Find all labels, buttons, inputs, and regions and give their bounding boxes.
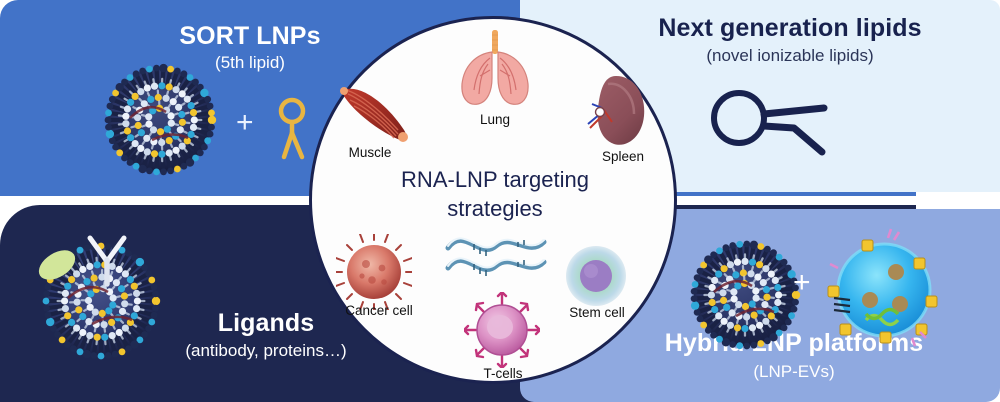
hybrid-lnp-platforms-subtitle: (LNP-EVs): [604, 362, 984, 381]
extracellular-vesicle-icon: [822, 228, 946, 352]
rna-strands-icon: [444, 228, 548, 280]
label-t-cells: T-cells: [458, 366, 548, 381]
center-heading: RNA-LNP targeting strategies: [345, 165, 645, 223]
next-generation-lipids-subtitle: (novel ionizable lipids): [600, 46, 980, 65]
lnp-nanoparticle-icon: [100, 60, 220, 180]
label-cancer-cell: Cancer cell: [329, 303, 429, 318]
fifth-lipid-molecule-icon: [272, 95, 324, 161]
plus-symbol-sort: +: [236, 108, 254, 138]
label-spleen: Spleen: [578, 149, 668, 164]
spleen-icon: [572, 70, 654, 152]
plus-symbol-hybrid: +: [793, 268, 811, 298]
rna-lnp-targeting-figure: +: [0, 0, 1000, 402]
antibody-y-shape-icon: [84, 234, 130, 288]
lung-icon: [454, 28, 536, 110]
protein-ellipse-icon: [34, 246, 80, 284]
muscle-icon: [336, 78, 416, 148]
label-muscle: Muscle: [325, 145, 415, 160]
sort-lnps-title: SORT LNPs: [120, 22, 380, 50]
center-heading-line-2: strategies: [345, 194, 645, 223]
center-heading-line-1: RNA-LNP targeting: [345, 165, 645, 194]
label-lung: Lung: [450, 112, 540, 127]
cancer-cell-icon: [336, 234, 412, 310]
ionizable-lipid-molecule-icon: [706, 82, 836, 158]
stem-cell-icon: [558, 238, 634, 314]
next-generation-lipids-title: Next generation lipids: [600, 14, 980, 42]
label-stem-cell: Stem cell: [552, 305, 642, 320]
lnp-nanoparticle-icon: [686, 236, 804, 354]
t-cell-icon: [464, 292, 540, 368]
